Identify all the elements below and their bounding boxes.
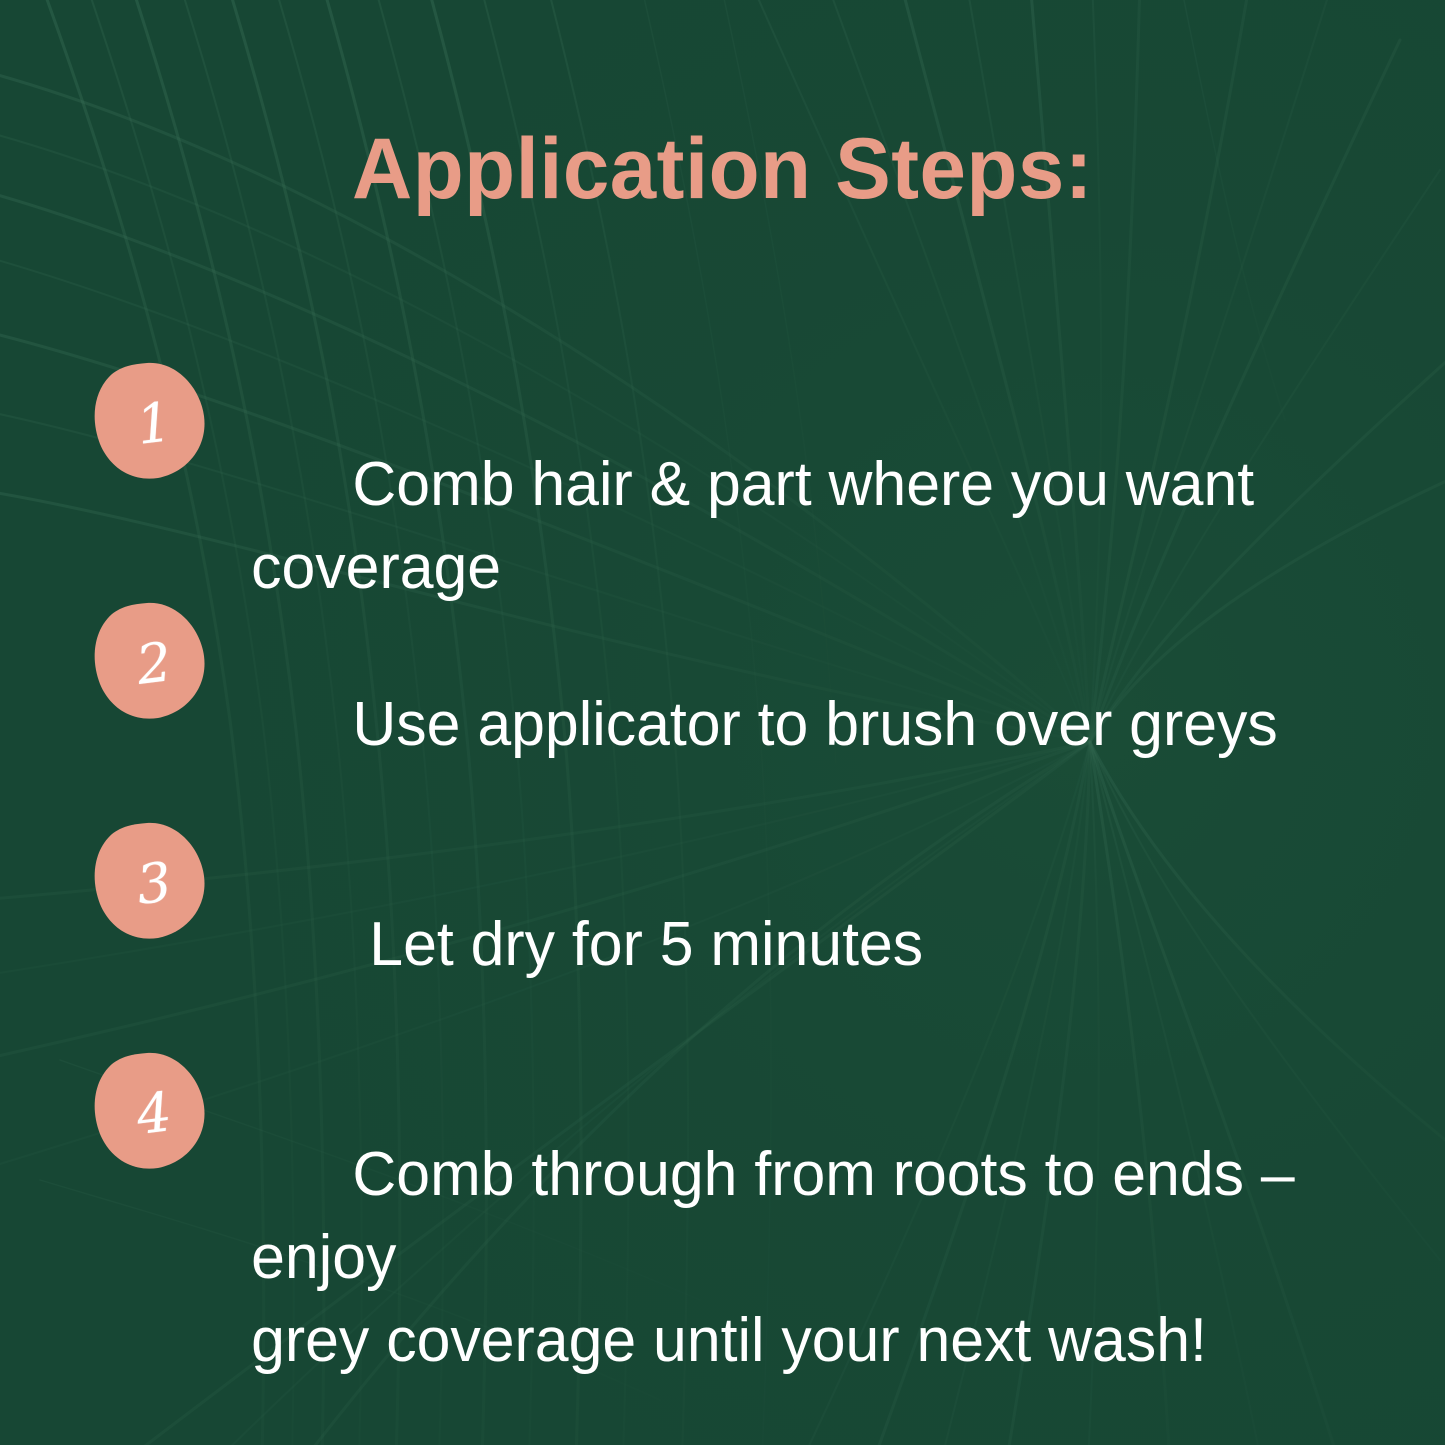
step-badge-4: 4: [88, 1050, 208, 1172]
step-text-2: Use applicator to brush over greys: [208, 600, 1420, 849]
step-text-4: Comb through from roots to ends – enjoyg…: [208, 1050, 1420, 1445]
step-line-1a: Comb hair & part where you want coverage: [251, 450, 1271, 602]
step-item-4: 4 Comb through from roots to ends – enjo…: [0, 1050, 1445, 1445]
step-line-2a: Use applicator to brush over greys: [352, 690, 1277, 759]
step-line-4a: Comb through from roots to ends – enjoy: [251, 1140, 1311, 1292]
application-steps-poster: Application Steps: 1 Comb hair & part wh…: [0, 0, 1445, 1445]
page-title: Application Steps:: [22, 124, 1424, 214]
step-line-3a: Let dry for 5 minutes: [352, 910, 923, 979]
step-badge-1: 1: [88, 360, 208, 482]
step-badge-3: 3: [88, 820, 208, 942]
step-line-4b: grey coverage until your next wash!: [251, 1299, 1352, 1382]
step-number-3: 3: [87, 815, 221, 951]
step-number-4: 4: [87, 1045, 221, 1181]
step-item-3: 3 Let dry for 5 minutes: [0, 820, 1445, 1069]
step-number-2: 2: [87, 595, 221, 731]
step-badge-2: 2: [88, 600, 208, 722]
step-item-2: 2 Use applicator to brush over greys: [0, 600, 1445, 849]
step-text-3: Let dry for 5 minutes: [208, 820, 1420, 1069]
step-number-1: 1: [87, 355, 221, 491]
